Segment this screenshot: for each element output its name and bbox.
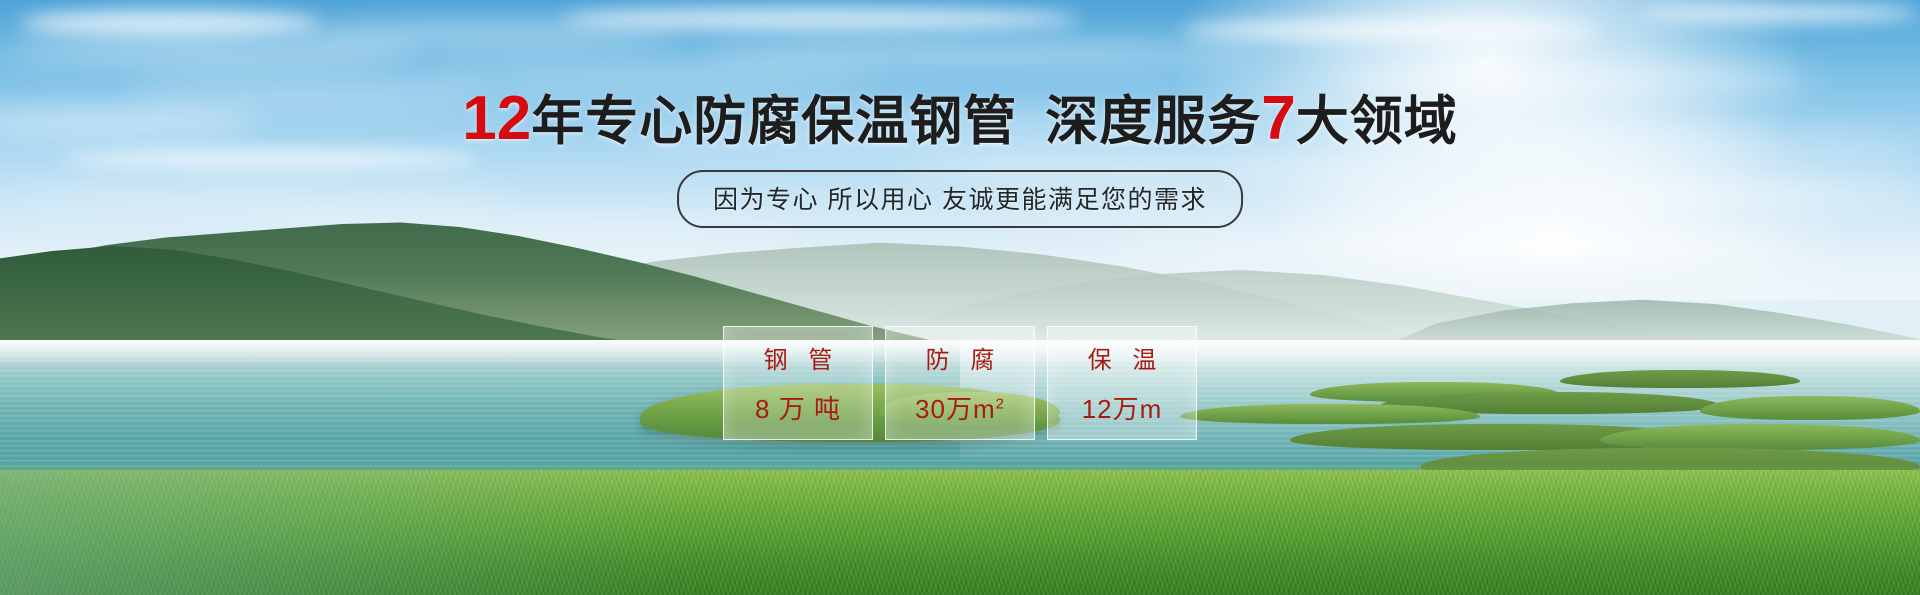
stat-card-value-exponent: 2 xyxy=(996,395,1005,412)
stat-card-value: 30万m2 xyxy=(915,389,1005,426)
stat-card-value-text: 12万m xyxy=(1082,394,1163,424)
stat-card-anticorrosion: 防 腐 30万m2 xyxy=(885,326,1035,440)
stat-card-value-text: 8 万 吨 xyxy=(755,394,841,424)
headline-fields-text: 大领域 xyxy=(1296,92,1458,151)
headline-lead-text: 年专心防腐保温钢管 xyxy=(531,92,1017,151)
banner-subtitle-text: 因为专心 所以用心 友诚更能满足您的需求 xyxy=(713,186,1207,214)
stat-card-label: 保 温 xyxy=(1081,340,1164,375)
stat-card-value: 8 万 吨 xyxy=(755,389,841,426)
stat-card-value: 12万m xyxy=(1082,389,1163,426)
stat-card-value-text: 30万m xyxy=(915,394,996,424)
stat-card-group: 钢 管 8 万 吨 防 腐 30万m2 保 温 12万m xyxy=(723,326,1197,440)
headline-years-number: 12 xyxy=(462,84,531,153)
hero-banner: 12年专心防腐保温钢管深度服务7大领域 因为专心 所以用心 友诚更能满足您的需求… xyxy=(0,0,1920,595)
stat-card-steel-pipe: 钢 管 8 万 吨 xyxy=(723,326,873,440)
banner-subtitle-pill: 因为专心 所以用心 友诚更能满足您的需求 xyxy=(677,170,1243,228)
stat-card-label: 钢 管 xyxy=(757,340,840,375)
stat-card-label: 防 腐 xyxy=(919,340,1002,375)
headline-service-text: 深度服务 xyxy=(1045,92,1261,151)
banner-content: 12年专心防腐保温钢管深度服务7大领域 因为专心 所以用心 友诚更能满足您的需求… xyxy=(0,0,1920,595)
headline-fields-number: 7 xyxy=(1261,84,1295,153)
banner-headline: 12年专心防腐保温钢管深度服务7大领域 xyxy=(0,88,1920,153)
stat-card-insulation: 保 温 12万m xyxy=(1047,326,1197,440)
